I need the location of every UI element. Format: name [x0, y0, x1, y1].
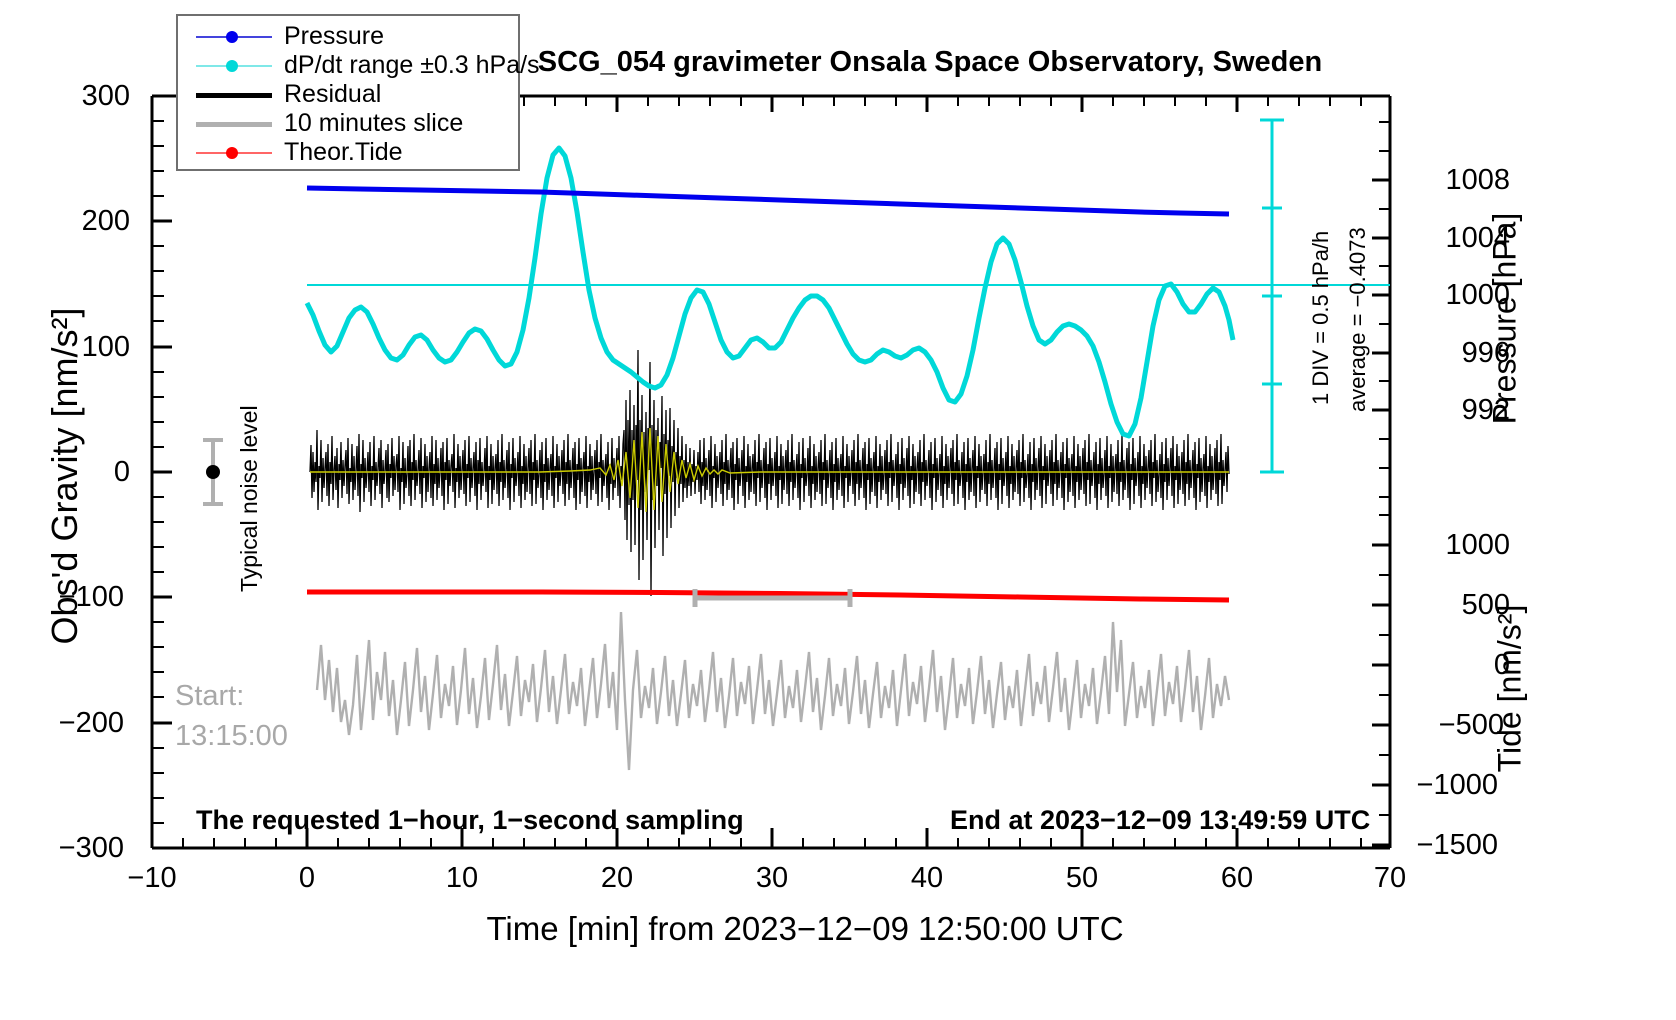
- series-pressure: [307, 188, 1229, 214]
- typical-noise-level-label: Typical noise level: [236, 405, 263, 592]
- y-axis-label-pressure: Pressure [hPa]: [1487, 119, 1524, 519]
- y-axis-ticks-right: [1372, 122, 1390, 845]
- x-tick-50: 50: [1032, 862, 1132, 895]
- legend-swatch-slice: [196, 114, 272, 134]
- legend-item-residual[interactable]: Residual: [178, 80, 518, 109]
- series-residual: [310, 350, 1229, 596]
- y-tick-left-n100: −100: [4, 581, 124, 614]
- x-axis-label: Time [min] from 2023−12−09 12:50:00 UTC: [180, 910, 1430, 948]
- dpdt-scale-bar: [1260, 120, 1284, 472]
- sampling-note: The requested 1−hour, 1−second sampling: [196, 805, 744, 836]
- y-tick-left-300: 300: [10, 80, 130, 113]
- legend-swatch-tide: [196, 143, 272, 163]
- y-tick-left-n300: −300: [4, 832, 124, 865]
- x-tick-0: 0: [257, 862, 357, 895]
- legend-item-slice[interactable]: 10 minutes slice: [178, 109, 518, 138]
- x-tick-n10: −10: [102, 862, 202, 895]
- legend-swatch-pressure: [196, 27, 272, 47]
- legend-label-tide: Theor.Tide: [272, 138, 403, 167]
- legend-swatch-residual: [196, 85, 272, 105]
- x-tick-60: 60: [1187, 862, 1287, 895]
- x-tick-20: 20: [567, 862, 667, 895]
- y-axis-label-tide: Tide [nm/s²]: [1492, 499, 1529, 879]
- typical-noise-marker: [203, 440, 223, 504]
- y-tick-tide-n1000: −1000: [1388, 769, 1498, 802]
- y-tick-left-200: 200: [10, 205, 130, 238]
- legend-swatch-dpdt: [196, 56, 272, 76]
- div-scale-note: 1 DIV = 0.5 hPa/h: [1308, 231, 1334, 405]
- legend: Pressure dP/dt range ±0.3 hPa/s Residual…: [176, 14, 520, 171]
- series-slice: [317, 612, 1229, 770]
- page-title: SCG_054 gravimeter Onsala Space Observat…: [430, 46, 1430, 79]
- y-tick-tide-n1500: −1500: [1388, 829, 1498, 862]
- y-tick-left-100: 100: [10, 331, 130, 364]
- y-tick-left-n200: −200: [4, 707, 124, 740]
- average-note: average = −0.4073: [1345, 227, 1371, 412]
- end-note: End at 2023−12−09 13:49:59 UTC: [950, 805, 1370, 836]
- legend-label-pressure: Pressure: [272, 22, 384, 51]
- legend-label-slice: 10 minutes slice: [272, 109, 463, 138]
- y-axis-ticks-left: [152, 96, 172, 848]
- x-tick-10: 10: [412, 862, 512, 895]
- legend-label-dpdt: dP/dt range ±0.3 hPa/s: [272, 51, 540, 80]
- x-tick-30: 30: [722, 862, 822, 895]
- start-label: Start:: [175, 680, 244, 713]
- x-tick-70: 70: [1340, 862, 1440, 895]
- legend-label-residual: Residual: [272, 80, 381, 109]
- y-tick-left-0: 0: [10, 456, 130, 489]
- legend-item-pressure[interactable]: Pressure: [178, 22, 518, 51]
- legend-item-tide[interactable]: Theor.Tide: [178, 138, 518, 167]
- x-tick-40: 40: [877, 862, 977, 895]
- y-tick-tide-n500: −500: [1394, 709, 1504, 742]
- legend-item-dpdt[interactable]: dP/dt range ±0.3 hPa/s: [178, 51, 518, 80]
- start-time: 13:15:00: [175, 720, 288, 753]
